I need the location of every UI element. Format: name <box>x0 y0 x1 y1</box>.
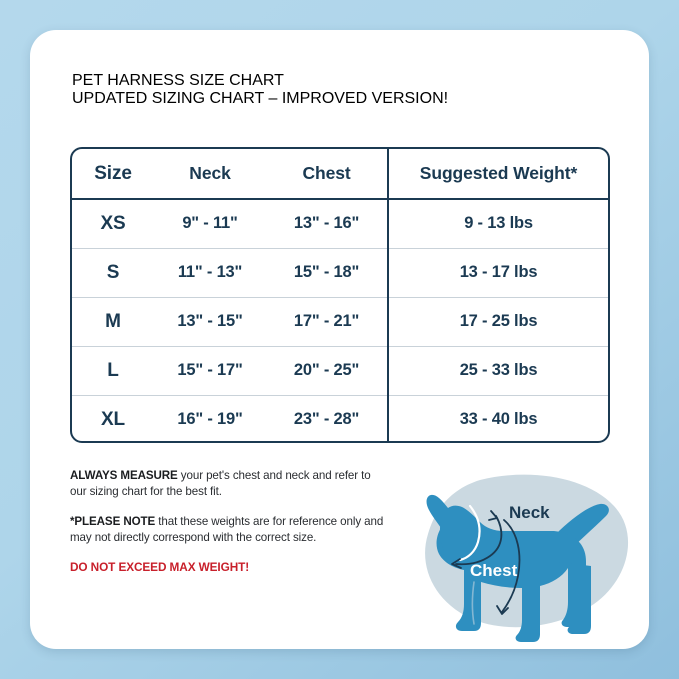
table-row: M 13" - 15" 17" - 21" 17 - 25 lbs <box>72 297 608 346</box>
page-subtitle: UPDATED SIZING CHART – IMPROVED VERSION! <box>72 90 617 108</box>
cell-weight: 25 - 33 lbs <box>388 346 608 395</box>
cell-weight: 17 - 25 lbs <box>388 297 608 346</box>
cell-neck: 13" - 15" <box>154 297 266 346</box>
note-always-measure: ALWAYS MEASURE your pet's chest and neck… <box>70 468 390 499</box>
cell-chest: 23" - 28" <box>266 395 388 443</box>
table-row: XS 9" - 11" 13" - 16" 9 - 13 lbs <box>72 199 608 248</box>
cell-chest: 17" - 21" <box>266 297 388 346</box>
chest-label: Chest <box>470 561 518 580</box>
cell-weight: 33 - 40 lbs <box>388 395 608 443</box>
table-row: S 11" - 13" 15" - 18" 13 - 17 lbs <box>72 248 608 297</box>
neck-label: Neck <box>509 503 550 522</box>
table-row: L 15" - 17" 20" - 25" 25 - 33 lbs <box>72 346 608 395</box>
cell-chest: 15" - 18" <box>266 248 388 297</box>
cell-size: S <box>72 248 154 297</box>
cell-weight: 13 - 17 lbs <box>388 248 608 297</box>
cell-size: M <box>72 297 154 346</box>
notes-section: ALWAYS MEASURE your pet's chest and neck… <box>70 468 390 574</box>
cell-chest: 13" - 16" <box>266 199 388 248</box>
column-header-suggested-weight: Suggested Weight* <box>388 149 608 199</box>
size-table: Size Neck Chest Suggested Weight* XS 9" … <box>72 149 608 443</box>
table-header-row: Size Neck Chest Suggested Weight* <box>72 149 608 199</box>
table-row: XL 16" - 19" 23" - 28" 33 - 40 lbs <box>72 395 608 443</box>
cell-weight: 9 - 13 lbs <box>388 199 608 248</box>
page-title: PET HARNESS SIZE CHART <box>72 72 617 90</box>
max-weight-warning: DO NOT EXCEED MAX WEIGHT! <box>70 560 390 574</box>
cell-neck: 16" - 19" <box>154 395 266 443</box>
cell-neck: 15" - 17" <box>154 346 266 395</box>
dog-measurement-illustration: Neck Chest <box>408 462 636 642</box>
cell-size: L <box>72 346 154 395</box>
note-always-measure-bold: ALWAYS MEASURE <box>70 469 178 482</box>
cell-size: XS <box>72 199 154 248</box>
cell-size: XL <box>72 395 154 443</box>
note-please-note: *PLEASE NOTE that these weights are for … <box>70 514 390 545</box>
cell-chest: 20" - 25" <box>266 346 388 395</box>
column-header-size: Size <box>72 149 154 199</box>
note-please-note-bold: *PLEASE NOTE <box>70 515 155 528</box>
table-body: XS 9" - 11" 13" - 16" 9 - 13 lbs S 11" -… <box>72 199 608 443</box>
cell-neck: 9" - 11" <box>154 199 266 248</box>
cell-neck: 11" - 13" <box>154 248 266 297</box>
header: PET HARNESS SIZE CHART UPDATED SIZING CH… <box>72 72 617 108</box>
dog-ear <box>440 508 474 560</box>
column-header-neck: Neck <box>154 149 266 199</box>
size-table-container: Size Neck Chest Suggested Weight* XS 9" … <box>70 147 610 443</box>
size-chart-card: PET HARNESS SIZE CHART UPDATED SIZING CH… <box>30 30 649 649</box>
column-header-chest: Chest <box>266 149 388 199</box>
table-header: Size Neck Chest Suggested Weight* <box>72 149 608 199</box>
